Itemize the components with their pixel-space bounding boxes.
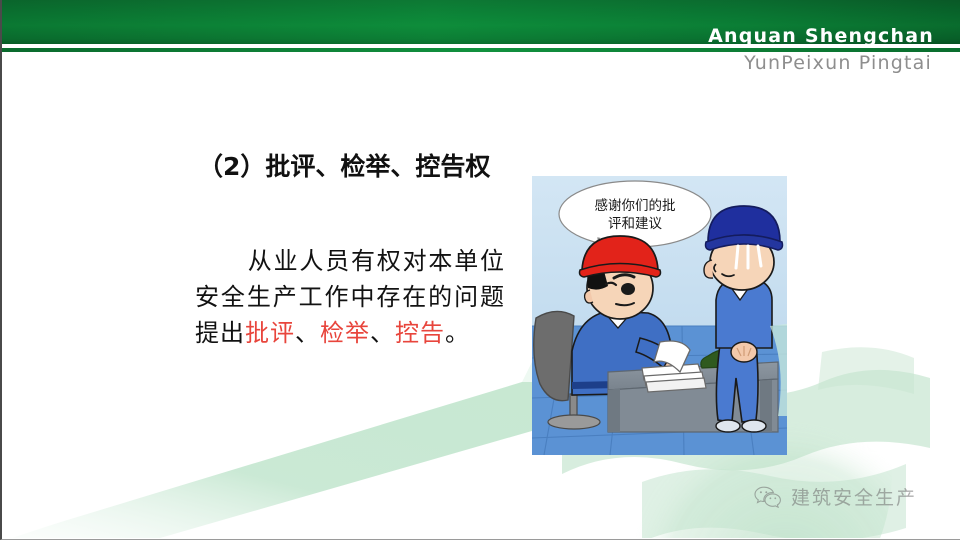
body-paragraph: 从业人员有权对本单位安全生产工作中存在的问题提出批评、检举、控告。 xyxy=(195,243,505,351)
header-subtitle: YunPeixun Pingtai xyxy=(744,52,932,74)
watermark: 建筑安全生产 xyxy=(754,483,917,510)
slide-canvas: Anquan Shengchan YunPeixun Pingtai （2）批评… xyxy=(0,0,960,540)
speech-bubble-line-1: 感谢你们的批 xyxy=(595,197,676,214)
body-highlight-term: 批评 xyxy=(245,319,295,347)
page-title: （2）批评、检举、控告权 xyxy=(198,152,528,182)
body-plain-text: 、 xyxy=(295,319,320,347)
body-highlight-term: 控告 xyxy=(395,319,445,347)
illustration-cartoon: 感谢你们的批 评和建议 xyxy=(532,176,787,455)
body-paragraph-text: 从业人员有权对本单位安全生产工作中存在的问题提出批评、检举、控告。 xyxy=(195,247,505,347)
speech-bubble-line-2: 评和建议 xyxy=(608,216,662,232)
wechat-icon xyxy=(754,485,782,508)
body-highlight-term: 检举 xyxy=(320,319,370,347)
illustration-svg: 感谢你们的批 评和建议 xyxy=(532,176,787,455)
body-plain-text: 。 xyxy=(445,319,470,347)
watermark-text: 建筑安全生产 xyxy=(791,483,917,510)
body-plain-text: 、 xyxy=(370,319,395,347)
header-title: Anquan Shengchan xyxy=(708,25,934,47)
